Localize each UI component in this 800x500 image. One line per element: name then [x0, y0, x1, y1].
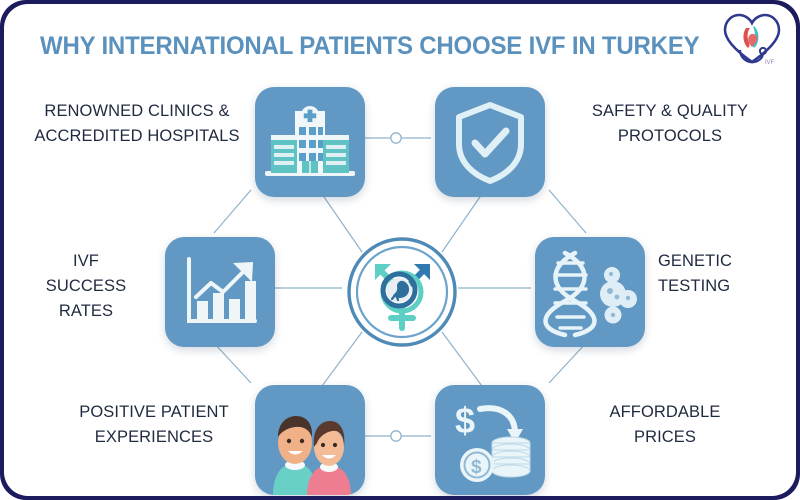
label-genetic-testing: GENETIC TESTING	[658, 249, 788, 299]
tile-renowned-clinics[interactable]	[255, 87, 365, 197]
tile-safety-quality[interactable]	[435, 87, 545, 197]
label-line: GENETIC	[658, 249, 788, 274]
infographic-canvas: WHY INTERNATIONAL PATIENTS CHOOSE IVF IN…	[0, 0, 800, 500]
label-line: PRICES	[570, 425, 760, 450]
tile-positive-patient-experiences[interactable]	[255, 385, 365, 495]
shield-check-icon	[435, 87, 545, 197]
label-positive-patient-experiences: POSITIVE PATIENT EXPERIENCES	[59, 400, 249, 450]
dna-helix-icon	[535, 237, 645, 347]
label-line: ACCREDITED HOSPITALS	[26, 124, 248, 149]
svg-text:$: $	[455, 400, 475, 441]
label-safety-quality: SAFETY & QUALITY PROTOCOLS	[570, 99, 770, 149]
label-line: TESTING	[658, 274, 788, 299]
svg-text:IVF: IVF	[765, 60, 775, 66]
tile-ivf-success-rates[interactable]	[165, 237, 275, 347]
heart-stethoscope-logo-icon: IVF	[716, 6, 788, 72]
label-line: EXPERIENCES	[59, 425, 249, 450]
money-coins-icon: $ $	[435, 385, 545, 495]
label-line: PROTOCOLS	[570, 124, 770, 149]
label-line: SUCCESS	[26, 274, 146, 299]
label-affordable-prices: AFFORDABLE PRICES	[570, 400, 760, 450]
svg-text:$: $	[471, 457, 482, 478]
label-line: RENOWNED CLINICS &	[26, 99, 248, 124]
center-hub-gender-symbol-embryo-icon[interactable]	[346, 236, 458, 348]
label-line: POSITIVE PATIENT	[59, 400, 249, 425]
label-ivf-success-rates: IVF SUCCESS RATES	[26, 249, 146, 323]
tile-genetic-testing[interactable]	[535, 237, 645, 347]
page-title: WHY INTERNATIONAL PATIENTS CHOOSE IVF IN…	[40, 32, 741, 61]
growth-bar-chart-icon	[165, 237, 275, 347]
label-line: RATES	[26, 299, 146, 324]
hospital-building-icon	[255, 87, 365, 197]
inner-panel: WHY INTERNATIONAL PATIENTS CHOOSE IVF IN…	[4, 4, 796, 496]
label-line: SAFETY & QUALITY	[570, 99, 770, 124]
tile-affordable-prices[interactable]: $ $	[435, 385, 545, 495]
label-line: AFFORDABLE	[570, 400, 760, 425]
happy-couple-icon	[255, 385, 365, 495]
label-line: IVF	[26, 249, 146, 274]
label-renowned-clinics: RENOWNED CLINICS & ACCREDITED HOSPITALS	[26, 99, 248, 149]
